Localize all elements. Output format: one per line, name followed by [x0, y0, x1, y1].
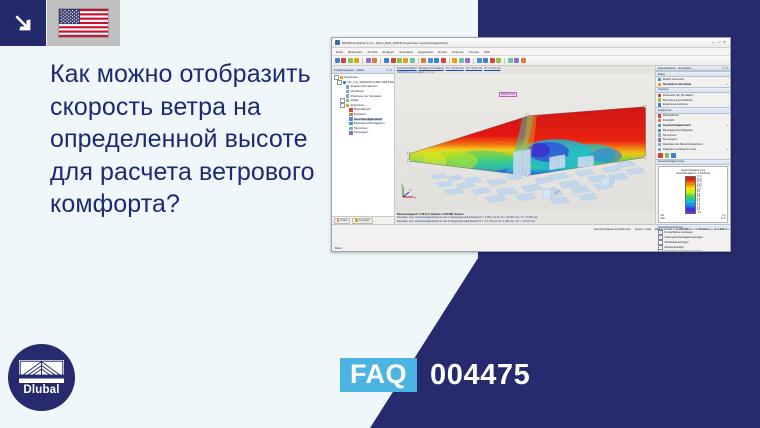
menu-item-ergebnisse[interactable]: Ergebnisse [418, 50, 433, 54]
results-row-icon [658, 143, 661, 146]
tree-item-label: Geschwindigkeitsfeld [354, 118, 382, 121]
calc-icon[interactable] [514, 58, 519, 63]
print-icon[interactable] [354, 58, 359, 63]
results-row-label: Stromlinien [663, 134, 676, 137]
tree-item-icon [346, 85, 349, 88]
tree-item-icon [349, 108, 352, 111]
legend-max-value: 17.2 [721, 218, 725, 220]
faq-identifier: FAQ 004475 [340, 358, 530, 392]
status-item-0: Geschwindigkeits-Projektfenster [594, 228, 631, 231]
toolbar[interactable] [332, 56, 730, 66]
vector-icon[interactable] [671, 153, 676, 158]
zoom-out-icon[interactable] [403, 58, 408, 63]
save-icon[interactable] [348, 58, 353, 63]
result-plane-icon[interactable] [477, 58, 482, 63]
status-item-1: System: Lokal [635, 228, 651, 231]
results-row-label: Simulations-Resultate [663, 83, 691, 86]
menu-item-simulation[interactable]: Simulation [399, 50, 413, 54]
tree-item-icon [346, 99, 349, 102]
navigator-tabs[interactable]: Daten Anzeigen [332, 216, 394, 224]
page-title: Как можно отобразить скорость ветра на о… [50, 58, 340, 221]
results-row-icon [658, 114, 661, 117]
view-front-icon[interactable] [428, 58, 433, 63]
display-option-row[interactable]: Verschiebeten Modell anzeigen [656, 250, 730, 252]
streamlines-icon[interactable] [496, 58, 501, 63]
tree-item-icon [346, 90, 349, 93]
tree-item-icon [349, 117, 352, 120]
menu-item-extras[interactable]: Extras [438, 50, 447, 54]
view-side-icon[interactable] [441, 58, 446, 63]
results-row-icon [658, 78, 661, 81]
navigator-header-buttons[interactable]: ⇱ ✕ [387, 68, 392, 72]
tree-item-label: Parameter der Simulation [351, 95, 382, 98]
legend-section-title: Geschwindigkeit [m/s] [658, 160, 684, 163]
us-flag-icon [59, 9, 108, 37]
toolbar-separator [418, 58, 419, 64]
tree-item-label: Konvergenz [354, 131, 369, 134]
results-row-icon [658, 119, 661, 122]
viewport-footer-line-2: Resultate: min. Geschwindigkeitsfeld an … [397, 220, 653, 223]
tree-item-label: Materialdruck [354, 108, 371, 111]
tree-item-icon [346, 104, 349, 107]
toolbar-separator [380, 58, 381, 64]
faq-badge: FAQ [340, 358, 417, 392]
mouse-cursor-icon: ⤢ [556, 189, 559, 194]
3d-viewport[interactable]: GeschwindigkeitWindgeschwindigkeitVx = 1… [395, 66, 655, 224]
tree-item-label: Ergebnisse [344, 76, 358, 79]
menu-bar[interactable]: Datei Bearbeiten Ansicht Einfügen Simula… [332, 48, 730, 56]
results-panel-sections[interactable]: DatenModell-GeometrieSimulations-Resulta… [656, 71, 730, 152]
tree-item-label: Ergebnisse [351, 104, 365, 107]
results-row-icon [658, 103, 661, 106]
results-row-label: Bauteilgeschwindigkeiten [663, 129, 693, 132]
vectors-icon[interactable] [490, 58, 495, 63]
results-panel[interactable]: Ergebniswerte - Simulation ⇱ ✕ DatenMode… [655, 66, 730, 224]
legend-min: Min [661, 215, 665, 217]
results-row-icon [658, 129, 661, 132]
results-panel-title: Ergebniswerte - Simulation [658, 66, 691, 70]
slide-canvas: Как можно отобразить скорость ветра на о… [0, 0, 760, 428]
legend-title-2: Geschwindigkeit in X-Richtung [661, 172, 726, 175]
view-top-icon[interactable] [434, 58, 439, 63]
results-row-icon [658, 133, 661, 136]
results-row-label: Ergebnisse beziehen [663, 103, 688, 106]
results-row-icon [658, 138, 661, 141]
results-row-label: Materialdruck [663, 114, 679, 117]
legend-max: Max [661, 218, 665, 220]
logo-wordmark: Dlubal [8, 384, 75, 396]
display-option-label: Konturflächen anzeigen [665, 231, 693, 234]
help-icon[interactable] [521, 58, 526, 63]
results-row-label: Konvergenz [663, 138, 677, 141]
zoom-window-icon[interactable] [391, 58, 396, 63]
results-row-label: Modell-Geometrie [663, 78, 684, 81]
tree-item-label: Druckfeld [354, 113, 366, 116]
tree-item-icon [349, 131, 352, 134]
tab-daten-label: Daten [340, 219, 347, 222]
faq-number: 004475 [430, 359, 530, 392]
toolbar-separator [362, 58, 363, 64]
tree-item-label: Stromlinien [354, 127, 368, 130]
tree-item[interactable]: Konvergenz [334, 131, 395, 136]
svg-text:Z: Z [401, 184, 403, 188]
dlubal-logo[interactable]: Dlubal [8, 344, 75, 411]
results-quick-icons[interactable] [656, 152, 730, 159]
wind-velocity-scene[interactable]: RWIND 15.0 Z X Y ⤢ [395, 74, 655, 210]
viewport-link-1[interactable]: Windgeschwindigkeit [419, 67, 444, 70]
tree-item-icon [349, 122, 352, 125]
chevron-right-icon[interactable]: ▸ [727, 148, 728, 151]
mesh-icon[interactable] [465, 58, 470, 63]
display-option-label: Verschiebeten Modell anzeigen [665, 250, 702, 252]
undo-icon[interactable] [366, 58, 371, 63]
results-row-icon [658, 148, 661, 151]
toolbar-separator [473, 58, 474, 64]
chevron-right-icon[interactable]: ▸ [727, 124, 728, 127]
results-row-icon [658, 98, 661, 101]
color-legend: Geschwindigkeit [m/s] Geschwindigkeit in… [658, 166, 728, 222]
navigator-header: Projektnavigator - Daten ⇱ ✕ [332, 66, 394, 74]
results-row-icon [658, 124, 661, 127]
results-row-label: Geschwindigkeitsfeld [663, 124, 691, 127]
rwind-application-window[interactable]: RWIND Simulation 1.0.1 - [Wind_2021_RWIN… [331, 37, 731, 252]
legend-tick-label: -1.0 [697, 212, 701, 215]
arrow-down-right-icon [11, 11, 35, 35]
svg-text:X: X [414, 196, 417, 200]
display-option-checkbox[interactable] [658, 249, 663, 252]
legend-color-swatch [686, 211, 695, 214]
results-row-icon [658, 83, 661, 86]
menu-item-optionen[interactable]: Optionen [452, 50, 464, 54]
settings-icon[interactable] [508, 58, 513, 63]
tree-item-label: Windkanal [351, 90, 364, 93]
status-item-3: X: 483.388 m [676, 228, 691, 231]
tree-item-label: Modell [351, 99, 359, 102]
window-body: Projektnavigator - Daten ⇱ ✕ -Ergebnisse… [332, 66, 730, 224]
window-title-bar[interactable]: RWIND Simulation 1.0.1 - [Wind_2021_RWIN… [332, 38, 730, 48]
tree-item-icon [349, 113, 352, 116]
tab-anzeigen-label: Anzeigen [359, 219, 370, 222]
tree-item-label: Bauteilgeschwindigkeiten [354, 122, 385, 125]
toolbar-separator [449, 58, 450, 64]
viewport-link-3[interactable]: Vy = 0.00 m/s [466, 67, 482, 70]
plane-icon[interactable] [658, 153, 663, 158]
legend-min-value: -1.2 [722, 215, 726, 217]
viewport-link-2[interactable]: Vx = 15.00 m/s [446, 67, 464, 70]
tree-item-icon [349, 127, 352, 130]
maximize-icon[interactable]: □ [718, 41, 720, 44]
display-option-label: Modell anzeigen [665, 246, 685, 249]
results-row-label: Parameter der Simulation [663, 94, 693, 97]
results-section-title: Daten [658, 73, 665, 76]
velocity-field-render [395, 74, 655, 210]
display-option-label: Nebengeschwindigkeit anzeigen [665, 236, 704, 239]
zoom-in-icon[interactable] [397, 58, 402, 63]
status-item-5: Z: 1.500 m [715, 228, 727, 231]
tree-item-label: W2_v(1)_VERSATZ-SUED-WEST-B014 [347, 81, 394, 84]
menu-item-einfuegen[interactable]: Einfügen [382, 50, 394, 54]
pan-icon[interactable] [410, 58, 415, 63]
toolbar-separator [504, 58, 505, 64]
bridge-truss-icon [19, 360, 64, 383]
results-row-label: Resultate des Bereich betrachten [663, 143, 703, 146]
viewport-footer: Berechnungszeit: 7:00:11 h, Dateien: 1.0… [395, 212, 655, 224]
legend-color-bar [685, 176, 696, 214]
svg-text:Y: Y [410, 189, 413, 193]
legend-values: 17.215.914.613.312.010.79.48.16.85.54.22… [697, 176, 701, 214]
expand-arrow-badge[interactable] [0, 0, 46, 46]
results-row-label: Druckfeld [663, 119, 674, 122]
redo-icon[interactable] [372, 58, 377, 63]
result-value-tag: RWIND 15.0 [499, 92, 517, 98]
close-icon[interactable]: ✕ [723, 41, 726, 44]
language-flag-button[interactable] [47, 0, 120, 46]
status-item-2: Ebene: z = 1.5 [655, 228, 672, 231]
results-section-title: Optionen [658, 88, 669, 91]
render-solid-icon[interactable] [452, 58, 457, 63]
minimize-icon[interactable]: — [712, 41, 715, 44]
tree-item-icon [346, 94, 349, 97]
tree-item-label: Eingabeinformationen [351, 85, 378, 88]
viewport-link-0[interactable]: Geschwindigkeit [397, 67, 417, 70]
window-title: RWIND Simulation 1.0.1 - [Wind_2021_RWIN… [342, 41, 710, 45]
results-section-title: Ergebnisse [658, 109, 671, 112]
navigator-tree[interactable]: -Ergebnisse-W2_v(1)_VERSATZ-SUED-WEST-B0… [332, 74, 394, 216]
results-row-icon [658, 94, 661, 97]
menu-item-ansicht[interactable]: Ansicht [368, 50, 378, 54]
viewport-link-4[interactable]: Vz = 0.00 m/s [484, 67, 501, 70]
status-left: Bereit [335, 247, 342, 250]
menu-item-datei[interactable]: Datei [336, 50, 343, 54]
window-controls[interactable]: — □ ✕ [712, 41, 727, 44]
project-navigator-panel[interactable]: Projektnavigator - Daten ⇱ ✕ -Ergebnisse… [332, 66, 395, 224]
status-item-4: Y: 163.844 m [695, 228, 710, 231]
menu-item-fenster[interactable]: Fenster [469, 50, 479, 54]
display-option-label: Windkanal anzeigen [665, 241, 689, 244]
result-iso-icon[interactable] [483, 58, 488, 63]
zoom-all-icon[interactable] [384, 58, 389, 63]
menu-item-hilfe[interactable]: Hilfe [484, 50, 490, 54]
iso-icon[interactable] [665, 153, 670, 158]
axis-triad-icon: Z X Y [400, 184, 416, 200]
tree-item-icon [343, 81, 346, 84]
menu-item-bearbeiten[interactable]: Bearbeiten [348, 50, 363, 54]
view-iso-icon[interactable] [421, 58, 426, 63]
tab-anzeigen[interactable]: Anzeigen [352, 218, 372, 224]
legend-section-header: Geschwindigkeit [m/s] [656, 159, 730, 165]
results-panel-header-buttons[interactable]: ⇱ ✕ [723, 66, 728, 70]
tree-toggle-icon[interactable]: - [340, 103, 345, 108]
results-row-label: Berechnung kontrollieren [663, 99, 693, 102]
open-icon[interactable] [341, 58, 346, 63]
chevron-right-icon[interactable]: ▸ [727, 83, 728, 86]
rwind-app-icon [335, 40, 340, 45]
results-row-label: Diagramm entlang der Linie [663, 148, 696, 151]
render-wire-icon[interactable] [459, 58, 464, 63]
